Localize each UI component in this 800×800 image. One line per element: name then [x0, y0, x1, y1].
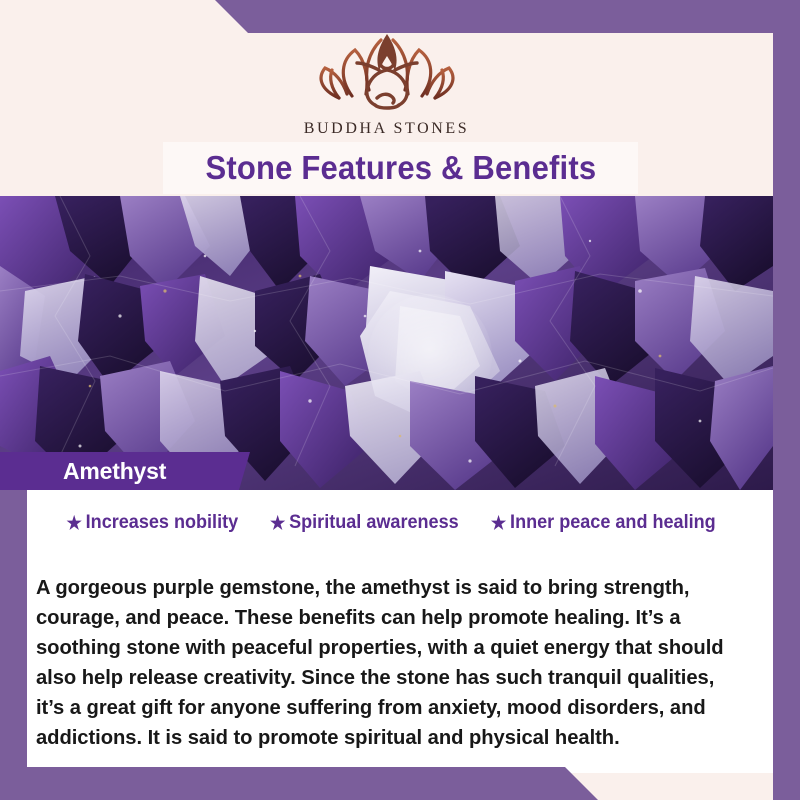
- stone-name-banner: Amethyst: [0, 452, 250, 490]
- frame-right-accent: [773, 0, 800, 800]
- benefits-list: ★ Increases nobility ★ Spiritual awarene…: [27, 512, 757, 534]
- benefit-label-1: Increases nobility: [86, 512, 238, 534]
- title-plate: Stone Features & Benefits: [163, 142, 638, 194]
- star-icon: ★: [67, 514, 82, 532]
- stone-description: A gorgeous purple gemstone, the amethyst…: [36, 573, 741, 753]
- lotus-meditation-icon: [303, 26, 471, 118]
- brand-logo: BUDDHA STONES: [0, 26, 773, 138]
- body-section: ★ Increases nobility ★ Spiritual awarene…: [0, 490, 773, 773]
- frame-left-accent: [0, 490, 27, 800]
- star-icon: ★: [491, 514, 506, 532]
- star-icon: ★: [270, 514, 285, 532]
- infographic-card: BUDDHA STONES Stone Features & Benefits: [0, 0, 800, 800]
- stone-name-label: Amethyst: [63, 458, 166, 485]
- benefit-label-2: Spiritual awareness: [289, 512, 459, 534]
- brand-name: BUDDHA STONES: [304, 120, 470, 138]
- benefit-item-1: ★ Increases nobility: [67, 512, 239, 534]
- benefit-label-3: Inner peace and healing: [510, 512, 716, 534]
- benefit-item-3: ★ Inner peace and healing: [491, 512, 716, 534]
- benefit-item-2: ★ Spiritual awareness: [270, 512, 459, 534]
- hero-image: [0, 196, 773, 490]
- page-title: Stone Features & Benefits: [205, 149, 596, 187]
